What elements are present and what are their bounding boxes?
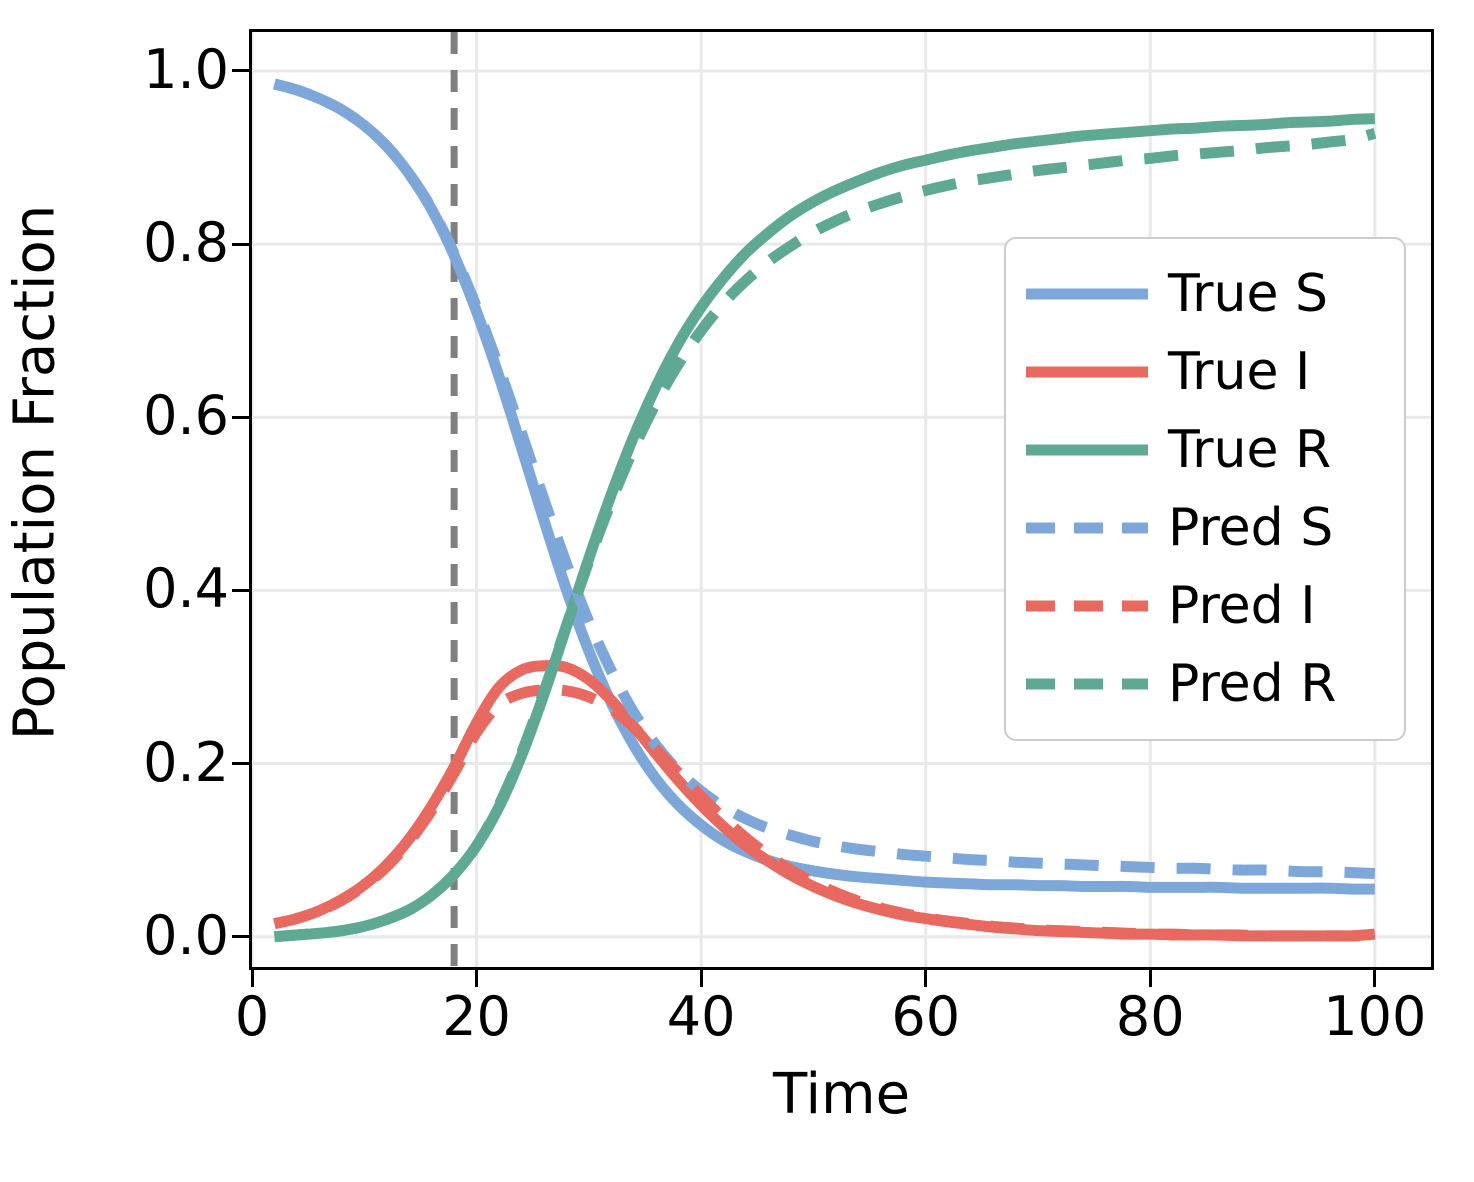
y-tick-label: 0.6 (29, 389, 229, 443)
x-tick-mark (1149, 970, 1152, 987)
legend-item-true-s[interactable]: True S (1024, 255, 1386, 333)
x-tick-label: 0 (152, 990, 352, 1044)
sir-model-chart: Population Fraction Time 0.00.20.40.60.8… (0, 0, 1474, 1182)
y-tick-mark (232, 589, 249, 592)
x-tick-label: 60 (826, 990, 1026, 1044)
legend-swatch-solid-line-icon (1024, 279, 1150, 309)
legend: True STrue ITrue RPred SPred IPred R (1004, 237, 1406, 741)
y-tick-label: 0.4 (29, 562, 229, 616)
legend-label: True S (1168, 268, 1328, 320)
legend-label: True R (1168, 424, 1331, 476)
legend-item-true-i[interactable]: True I (1024, 333, 1386, 411)
y-tick-mark (232, 762, 249, 765)
x-axis-title: Time (249, 1062, 1434, 1127)
x-tick-label: 20 (377, 990, 577, 1044)
x-tick-label: 40 (601, 990, 801, 1044)
legend-item-pred-s[interactable]: Pred S (1024, 489, 1386, 567)
y-tick-label: 0.8 (29, 216, 229, 270)
x-tick-mark (700, 970, 703, 987)
y-tick-mark (232, 69, 249, 72)
x-tick-label: 80 (1050, 990, 1250, 1044)
y-tick-label: 0.0 (29, 909, 229, 963)
legend-label: Pred R (1168, 658, 1336, 710)
y-tick-mark (232, 935, 249, 938)
legend-swatch-dashed-line-icon (1024, 669, 1150, 699)
legend-swatch-dashed-line-icon (1024, 513, 1150, 543)
legend-swatch-solid-line-icon (1024, 357, 1150, 387)
x-tick-mark (251, 970, 254, 987)
legend-label: True I (1168, 346, 1310, 398)
y-tick-mark (232, 243, 249, 246)
legend-swatch-dashed-line-icon (1024, 591, 1150, 621)
legend-item-true-r[interactable]: True R (1024, 411, 1386, 489)
x-tick-mark (475, 970, 478, 987)
legend-swatch-solid-line-icon (1024, 435, 1150, 465)
y-tick-label: 0.2 (29, 736, 229, 790)
legend-item-pred-i[interactable]: Pred I (1024, 567, 1386, 645)
y-tick-mark (232, 416, 249, 419)
y-tick-label: 1.0 (29, 43, 229, 97)
legend-label: Pred S (1168, 502, 1333, 554)
x-tick-label: 100 (1275, 990, 1474, 1044)
x-tick-mark (924, 970, 927, 987)
legend-item-pred-r[interactable]: Pred R (1024, 645, 1386, 723)
x-tick-mark (1373, 970, 1376, 987)
legend-label: Pred I (1168, 580, 1316, 632)
